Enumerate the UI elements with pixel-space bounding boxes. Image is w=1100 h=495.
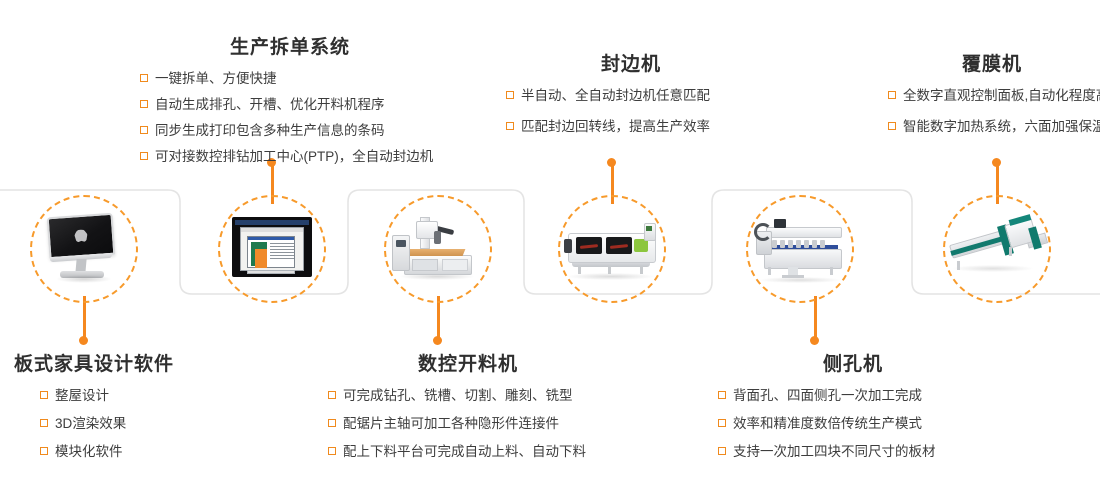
- stem-dot-side-hole: [810, 336, 819, 345]
- list-item: 匹配封边回转线，提高生产效率: [506, 117, 756, 138]
- bullet-square-icon: [140, 100, 148, 108]
- bullet-square-icon: [328, 447, 336, 455]
- bullet-square-icon: [328, 419, 336, 427]
- bullet-square-icon: [506, 91, 514, 99]
- bullet-square-icon: [888, 122, 896, 130]
- bullet-list-cnc-cutting-machine: 可完成钻孔、铣槽、切割、雕刻、铣型 配锯片主轴可加工各种隐形件连接件 配上下料平…: [328, 386, 608, 463]
- block-title-edge-banding-machine: 封边机: [506, 55, 756, 76]
- block-design-software: 板式家具设计软件 整屋设计 3D渲染效果 模块化软件: [14, 355, 214, 463]
- node-split-order-system[interactable]: [218, 195, 326, 303]
- list-item: 智能数字加热系统，六面加强保温: [888, 117, 1100, 138]
- bullet-list-split-order-system: 一键拆单、方便快捷 自动生成排孔、开槽、优化开料机程序 同步生成打印包含多种生产…: [140, 69, 440, 168]
- block-laminating-machine: 覆膜机 全数字直观控制面板,自动化程度高 智能数字加热系统，六面加强保温: [888, 55, 1100, 138]
- bullet-square-icon: [140, 74, 148, 82]
- bullet-text: 智能数字加热系统，六面加强保温: [903, 117, 1100, 138]
- bullet-text: 3D渲染效果: [55, 414, 126, 435]
- bullet-square-icon: [140, 152, 148, 160]
- bullet-square-icon: [328, 391, 336, 399]
- bullet-square-icon: [506, 122, 514, 130]
- node-edge-banding[interactable]: [558, 195, 666, 303]
- bullet-text: 整屋设计: [55, 386, 109, 407]
- bullet-square-icon: [888, 91, 896, 99]
- list-item: 效率和精准度数倍传统生产模式: [718, 414, 998, 435]
- bullet-text: 背面孔、四面侧孔一次加工完成: [733, 386, 922, 407]
- bullet-text: 匹配封边回转线，提高生产效率: [521, 117, 710, 138]
- block-title-split-order-system: 生产拆单系统: [140, 38, 440, 59]
- list-item: 配锯片主轴可加工各种隐形件连接件: [328, 414, 608, 435]
- bullet-square-icon: [40, 391, 48, 399]
- list-item: 自动生成排孔、开槽、优化开料机程序: [140, 95, 440, 116]
- bullet-list-side-hole-machine: 背面孔、四面侧孔一次加工完成 效率和精准度数倍传统生产模式 支持一次加工四块不同…: [718, 386, 998, 463]
- bullet-text: 全数字直观控制面板,自动化程度高: [903, 86, 1100, 107]
- bullet-text: 效率和精准度数倍传统生产模式: [733, 414, 922, 435]
- list-item: 整屋设计: [40, 386, 214, 407]
- block-title-side-hole-machine: 侧孔机: [708, 355, 998, 376]
- list-item: 支持一次加工四块不同尺寸的板材: [718, 442, 998, 463]
- cad-software-screen-icon: [224, 209, 320, 289]
- bullet-square-icon: [718, 391, 726, 399]
- list-item: 半自动、全自动封边机任意匹配: [506, 86, 756, 107]
- bullet-list-laminating-machine: 全数字直观控制面板,自动化程度高 智能数字加热系统，六面加强保温: [888, 86, 1100, 138]
- block-title-cnc-cutting-machine: 数控开料机: [328, 355, 608, 376]
- edge-bander-icon: [564, 209, 660, 289]
- list-item: 配上下料平台可完成自动上料、自动下料: [328, 442, 608, 463]
- node-laminating[interactable]: [943, 195, 1051, 303]
- block-title-design-software: 板式家具设计软件: [14, 355, 214, 376]
- bullet-text: 自动生成排孔、开槽、优化开料机程序: [155, 95, 385, 116]
- stem-dot-laminating: [992, 158, 1001, 167]
- infographic-stage: 生产拆单系统 一键拆单、方便快捷 自动生成排孔、开槽、优化开料机程序 同步生成打…: [0, 0, 1100, 495]
- bullet-text: 支持一次加工四块不同尺寸的板材: [733, 442, 936, 463]
- bullet-list-edge-banding-machine: 半自动、全自动封边机任意匹配 匹配封边回转线，提高生产效率: [506, 86, 756, 138]
- list-item: 模块化软件: [40, 442, 214, 463]
- bullet-text: 同步生成打印包含多种生产信息的条码: [155, 121, 385, 142]
- block-cnc-cutting-machine: 数控开料机 可完成钻孔、铣槽、切割、雕刻、铣型 配锯片主轴可加工各种隐形件连接件…: [328, 355, 608, 463]
- bullet-text: 配锯片主轴可加工各种隐形件连接件: [343, 414, 559, 435]
- bullet-text: 可完成钻孔、铣槽、切割、雕刻、铣型: [343, 386, 573, 407]
- bullet-text: 配上下料平台可完成自动上料、自动下料: [343, 442, 586, 463]
- block-split-order-system: 生产拆单系统 一键拆单、方便快捷 自动生成排孔、开槽、优化开料机程序 同步生成打…: [140, 38, 440, 168]
- cnc-router-icon: [390, 209, 486, 289]
- node-cnc-cutting-machine[interactable]: [384, 195, 492, 303]
- bullet-text: 半自动、全自动封边机任意匹配: [521, 86, 710, 107]
- node-side-hole[interactable]: [746, 195, 854, 303]
- laminating-machine-icon: [949, 209, 1045, 289]
- list-item: 可完成钻孔、铣槽、切割、雕刻、铣型: [328, 386, 608, 407]
- stem-dot-cnc-cutting-machine: [433, 336, 442, 345]
- bullet-text: 一键拆单、方便快捷: [155, 69, 277, 90]
- block-title-laminating-machine: 覆膜机: [884, 55, 1100, 76]
- list-item: 一键拆单、方便快捷: [140, 69, 440, 90]
- list-item: 全数字直观控制面板,自动化程度高: [888, 86, 1100, 107]
- block-edge-banding-machine: 封边机 半自动、全自动封边机任意匹配 匹配封边回转线，提高生产效率: [506, 55, 756, 138]
- bullet-text: 可对接数控排钻加工中心(PTP)，全自动封边机: [155, 147, 433, 168]
- stem-side-hole: [814, 296, 817, 340]
- node-design-software[interactable]: [30, 195, 138, 303]
- list-item: 可对接数控排钻加工中心(PTP)，全自动封边机: [140, 147, 440, 168]
- bullet-square-icon: [718, 419, 726, 427]
- bullet-square-icon: [718, 447, 726, 455]
- side-drilling-machine-icon: [752, 209, 848, 289]
- bullet-square-icon: [140, 126, 148, 134]
- list-item: 同步生成打印包含多种生产信息的条码: [140, 121, 440, 142]
- stem-dot-design-software: [79, 336, 88, 345]
- list-item: 3D渲染效果: [40, 414, 214, 435]
- imac-monitor-icon: [36, 209, 132, 289]
- bullet-square-icon: [40, 447, 48, 455]
- bullet-square-icon: [40, 419, 48, 427]
- block-side-hole-machine: 侧孔机 背面孔、四面侧孔一次加工完成 效率和精准度数倍传统生产模式 支持一次加工…: [718, 355, 998, 463]
- bullet-list-design-software: 整屋设计 3D渲染效果 模块化软件: [14, 386, 214, 463]
- bullet-text: 模块化软件: [55, 442, 123, 463]
- list-item: 背面孔、四面侧孔一次加工完成: [718, 386, 998, 407]
- stem-dot-edge-banding: [607, 158, 616, 167]
